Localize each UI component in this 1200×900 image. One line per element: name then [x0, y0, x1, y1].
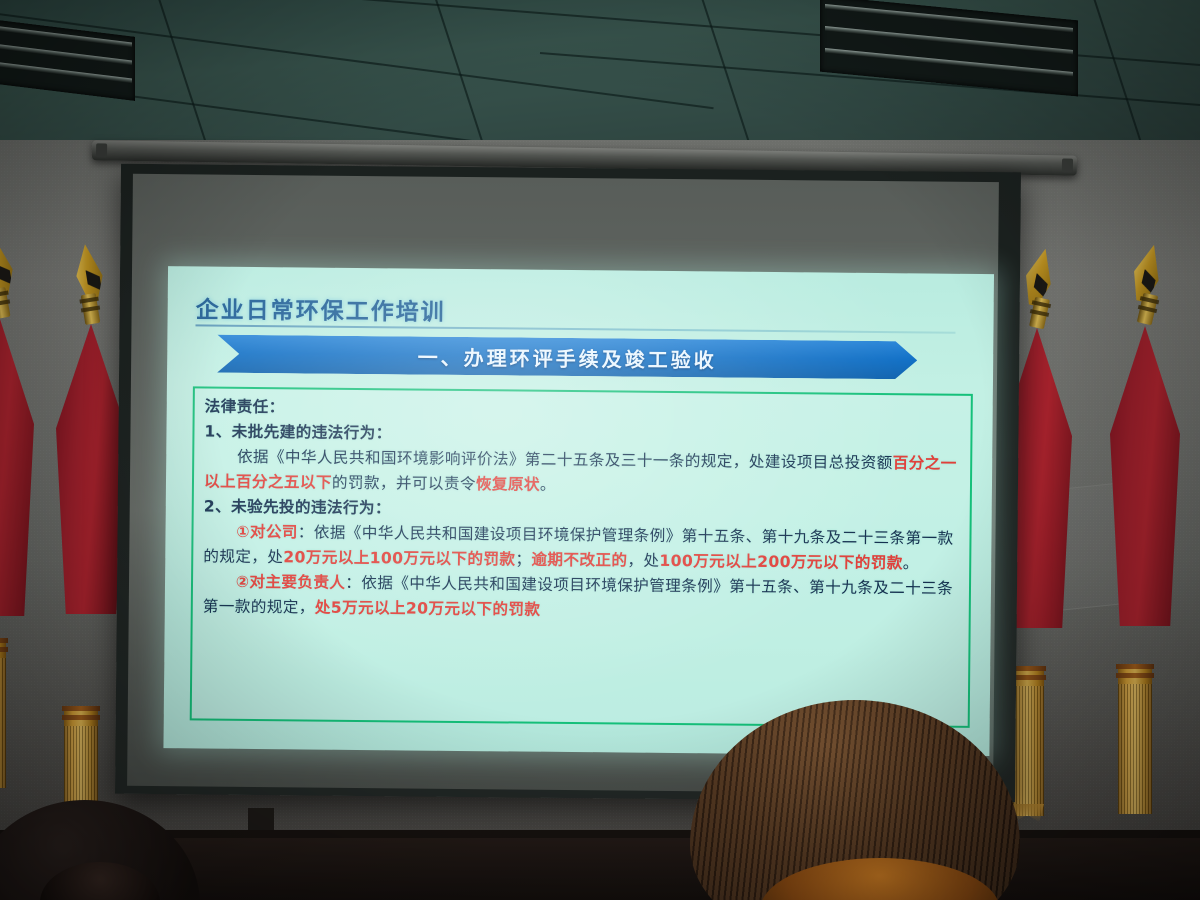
legal-responsibility-box: 法律责任：1、未批先建的违法行为：依据《中华人民共和国环境影响评价法》第二十五条… — [190, 386, 973, 727]
ceiling-tile-seam — [149, 0, 237, 152]
ceiling — [0, 0, 1200, 152]
title-underline — [195, 324, 955, 333]
slide-title: 企业日常环保工作培训 — [196, 290, 446, 326]
ceiling-tile-seam — [1079, 0, 1155, 152]
section-banner-text: 一、办理环评手续及竣工验收 — [418, 341, 717, 373]
slide-body-text: 法律责任：1、未批先建的违法行为：依据《中华人民共和国环境影响评价法》第二十五条… — [203, 395, 963, 627]
presentation-slide: 企业日常环保工作培训 一、办理环评手续及竣工验收 法律责任：1、未批先建的违法行… — [163, 266, 994, 756]
air-vent-icon — [0, 19, 135, 101]
flag-tassel — [1118, 664, 1152, 814]
air-vent-icon — [820, 0, 1078, 96]
section-banner: 一、办理环评手续及竣工验收 — [217, 335, 917, 380]
flag-tassel — [0, 638, 6, 788]
conference-room-scene: 企业日常环保工作培训 一、办理环评手续及竣工验收 法律责任：1、未批先建的违法行… — [0, 0, 1200, 900]
ceiling-tile-seam — [689, 0, 768, 152]
